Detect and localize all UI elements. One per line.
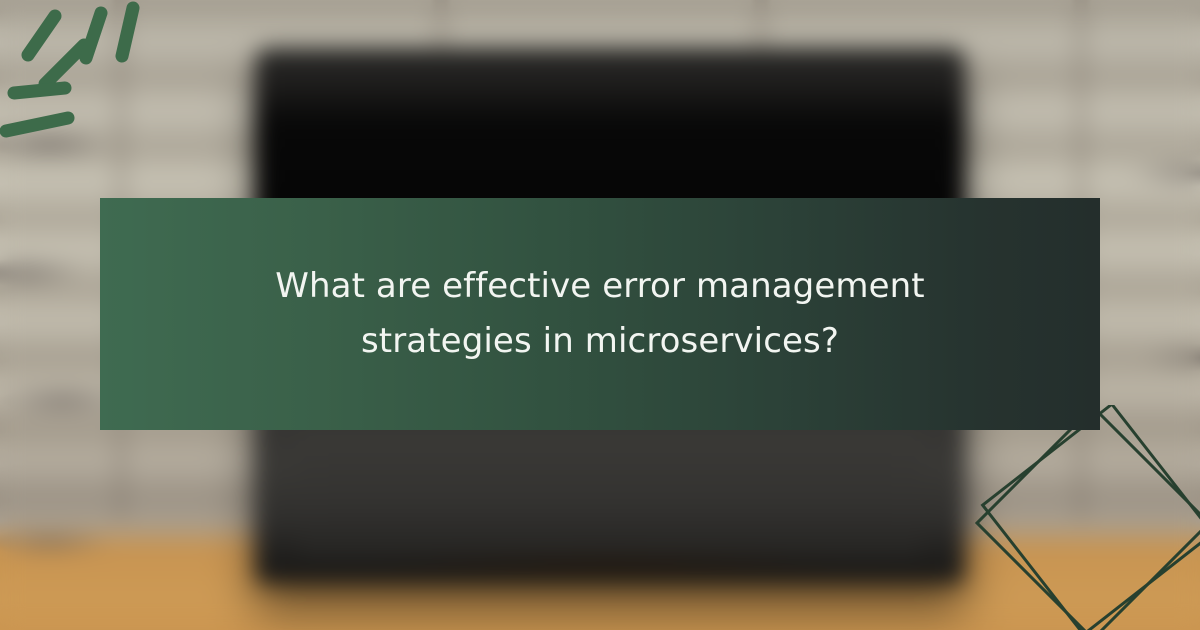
sparkle-burst-icon: [0, 0, 190, 160]
sparkle-stroke-3: [86, 13, 101, 58]
rotated-square-1: [977, 407, 1200, 630]
sparkle-stroke-6: [6, 118, 68, 131]
title-banner: What are effective error management stra…: [100, 198, 1100, 430]
sparkle-stroke-1: [28, 16, 55, 55]
sparkle-stroke-5: [14, 88, 65, 93]
page-title: What are effective error management stra…: [250, 259, 950, 369]
rotated-square-2: [983, 405, 1200, 630]
sparkle-stroke-2: [45, 45, 84, 84]
rotated-squares-decoration: [975, 405, 1200, 630]
og-image-canvas: What are effective error management stra…: [0, 0, 1200, 630]
sparkle-stroke-4: [122, 8, 133, 56]
